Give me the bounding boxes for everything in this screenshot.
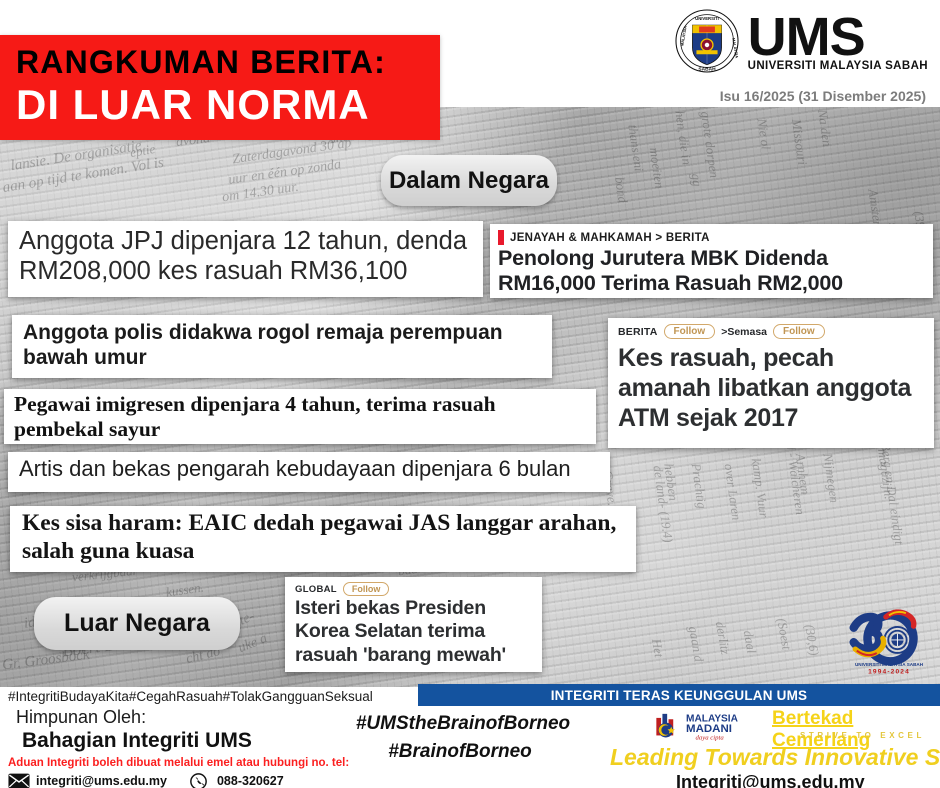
news-clipping-atm: BERITA Follow >Semasa Follow Kes rasuah,… xyxy=(608,318,934,448)
poster-title-line2: DI LUAR NORMA xyxy=(16,81,370,129)
headline-mbk: Penolong Jurutera MBK Didenda RM16,000 T… xyxy=(498,246,927,296)
news-clipping-korea: GLOBAL Follow Isteri bekas Presiden Kore… xyxy=(285,577,542,672)
complaint-note: Aduan Integriti boleh dibuat melalui eme… xyxy=(8,757,349,769)
svg-text:UNIVERSITI MALAYSIA SABAH: UNIVERSITI MALAYSIA SABAH xyxy=(855,662,924,667)
kicker-korea-label: GLOBAL xyxy=(295,584,337,595)
compiled-by-value: Bahagian Integriti UMS xyxy=(22,729,252,753)
news-clipping-eaic: Kes sisa haram: EAIC dedah pegawai JAS l… xyxy=(10,506,636,572)
section-label-luar-negara-text: Luar Negara xyxy=(64,609,210,638)
headline-atm: Kes rasuah, pecah amanah libatkan anggot… xyxy=(618,344,930,433)
kicker-bar-icon xyxy=(498,230,504,245)
svg-text:1994-2024: 1994-2024 xyxy=(868,669,910,676)
headline-korea: Isteri bekas Presiden Korea Selatan teri… xyxy=(295,597,538,667)
contact-email-text: integriti@ums.edu.my xyxy=(36,774,167,788)
ums-wordmark: UMS UNIVERSITI MALAYSIA SABAH xyxy=(748,10,928,73)
hashtag-brain: #BrainofBorneo xyxy=(332,738,588,766)
headline-imigresen: Pegawai imigresen dipenjara 4 tahun, ter… xyxy=(14,392,590,441)
compiled-by-label: Himpunan Oleh: xyxy=(16,707,146,728)
hashtag-ums-brain: #UMStheBrainofBorneo xyxy=(338,710,588,738)
strive-to-excel-text: STRIVE TO EXCEL xyxy=(800,731,925,740)
headline-jpj: Anggota JPJ dipenjara 12 tahun, denda RM… xyxy=(19,227,475,286)
section-label-dalam-negara-text: Dalam Negara xyxy=(389,167,549,195)
envelope-icon xyxy=(8,773,30,788)
follow-button-2[interactable]: Follow xyxy=(773,324,825,339)
news-clipping-mbk: JENAYAH & MAHKAMAH > BERITA Penolong Jur… xyxy=(490,224,933,298)
svg-text:UNIVERSITI: UNIVERSITI xyxy=(695,16,719,21)
kicker-mbk: JENAYAH & MAHKAMAH > BERITA xyxy=(498,230,710,245)
integrity-band-text: INTEGRITI TERAS KEUNGGULAN UMS xyxy=(551,688,808,703)
ums-logo: UNIVERSITI SABAH MALAYSIA MALAYSIA UMS U… xyxy=(674,8,928,74)
footer-hashtags: #IntegritiBudayaKita#CegahRasuah#TolakGa… xyxy=(8,689,373,704)
phone-icon xyxy=(189,773,211,788)
integrity-band: INTEGRITI TERAS KEUNGGULAN UMS xyxy=(418,684,940,706)
integriti-email-text: Integriti@ums.edu.my xyxy=(676,772,865,788)
headline-artis: Artis dan bekas pengarah kebudayaan dipe… xyxy=(19,457,604,481)
leading-societies-text: Leading Towards Innovative Societies xyxy=(610,744,940,771)
contact-list: integriti@ums.edu.my 088-320627 xyxy=(8,773,284,788)
poster-title-block: RANGKUMAN BERITA: DI LUAR NORMA xyxy=(0,35,440,140)
follow-button-3[interactable]: Follow xyxy=(343,582,390,596)
kicker-atm-label: BERITA xyxy=(618,326,658,338)
ums-crest-icon: UNIVERSITI SABAH MALAYSIA MALAYSIA xyxy=(674,8,740,74)
svg-text:SABAH: SABAH xyxy=(698,67,716,73)
contact-email[interactable]: integriti@ums.edu.my xyxy=(8,773,167,788)
svg-text:MADANI: MADANI xyxy=(686,723,732,735)
kicker-atm-sep: >Semasa xyxy=(721,326,767,338)
issue-number: Isu 16/2025 (31 Disember 2025) xyxy=(720,88,926,104)
follow-button-1[interactable]: Follow xyxy=(664,324,716,339)
poster-title-line1: RANGKUMAN BERITA: xyxy=(16,44,386,81)
kicker-mbk-text: JENAYAH & MAHKAMAH > BERITA xyxy=(510,232,710,244)
contact-phone[interactable]: 088-320627 xyxy=(189,773,284,788)
headline-eaic: Kes sisa haram: EAIC dedah pegawai JAS l… xyxy=(22,510,630,565)
section-label-dalam-negara: Dalam Negara xyxy=(381,155,557,206)
malaysia-madani-logo: MALAYSIA MADANI daya cipta xyxy=(655,708,763,744)
news-clipping-jpj: Anggota JPJ dipenjara 12 tahun, denda RM… xyxy=(8,221,483,297)
section-label-luar-negara: Luar Negara xyxy=(34,597,240,650)
kicker-korea: GLOBAL Follow xyxy=(295,582,389,596)
news-clipping-polis: Anggota polis didakwa rogol remaja perem… xyxy=(12,315,552,378)
headline-polis: Anggota polis didakwa rogol remaja perem… xyxy=(23,320,544,370)
news-clipping-imigresen: Pegawai imigresen dipenjara 4 tahun, ter… xyxy=(4,389,596,444)
ums-wordmark-text: UMS xyxy=(748,10,928,64)
poster-canvas: lansie. De organisatie t aan op tijd te … xyxy=(0,0,940,788)
brain-of-borneo-hashtags: #UMStheBrainofBorneo #BrainofBorneo xyxy=(338,710,588,765)
news-clipping-artis: Artis dan bekas pengarah kebudayaan dipe… xyxy=(8,452,610,492)
ums-wordmark-sub: UNIVERSITI MALAYSIA SABAH xyxy=(748,61,928,73)
kicker-atm: BERITA Follow >Semasa Follow xyxy=(618,324,825,339)
ums-30th-anniversary-logo: UNIVERSITI MALAYSIA SABAH 1994-2024 xyxy=(843,604,935,682)
svg-text:daya cipta: daya cipta xyxy=(696,735,725,742)
contact-phone-text: 088-320627 xyxy=(217,774,284,788)
